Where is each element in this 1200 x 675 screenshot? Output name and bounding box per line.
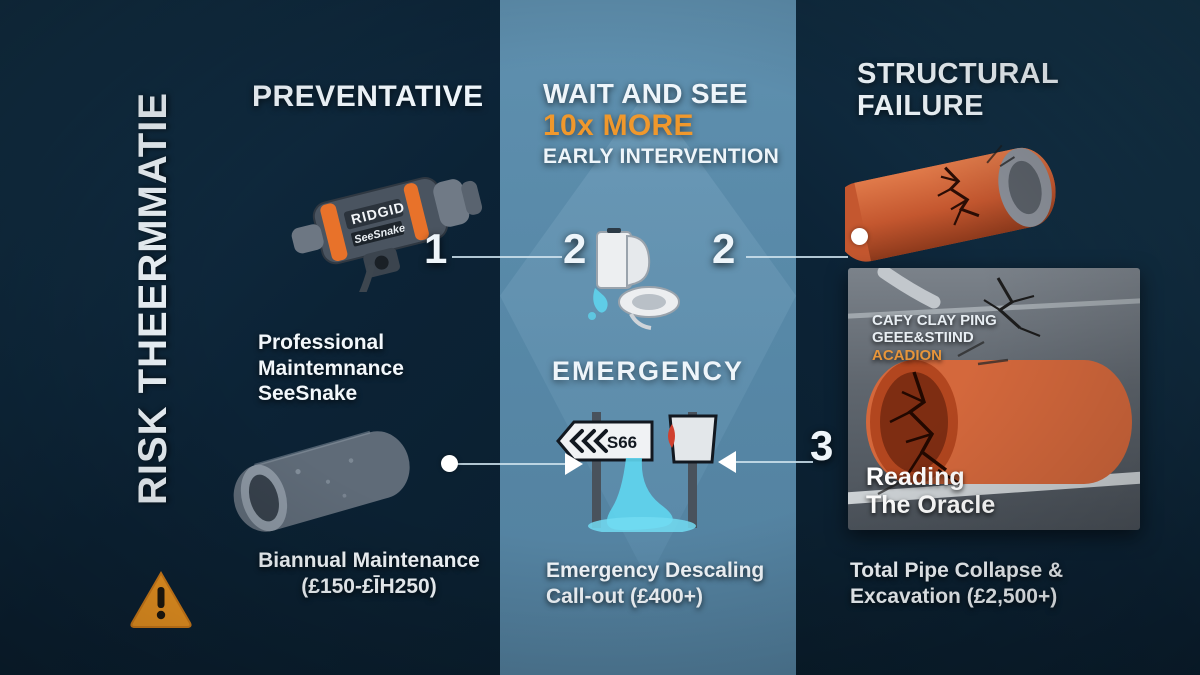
header-structural-line1: STRUCTURAL: [857, 58, 1059, 90]
pipe-collapse-photo-card: CAFY CLAY PING GEEE&STIIND ACADION Readi…: [848, 268, 1140, 530]
marker-number-3: 3: [810, 425, 833, 467]
photo-overlay-bottom-line1: Reading: [866, 463, 995, 492]
arrow-right-icon: [565, 453, 583, 475]
leaking-toilet-icon: [583, 222, 691, 332]
caption-biannual-line1: Biannual Maintenance: [234, 548, 504, 574]
photo-overlay-bottom-text: Reading The Oracle: [866, 463, 995, 521]
header-early-intervention: EARLY INTERVENTION: [543, 145, 779, 169]
caption-professional-maintenance: Professional Maintemnance SeeSnake: [258, 330, 404, 407]
caption-biannual-maintenance: Biannual Maintenance (£150-£ĪH250): [234, 548, 504, 599]
caption-biannual-line2: (£150-£ĪH250): [234, 574, 504, 600]
vertical-title: RISK THEERMMATIE: [118, 92, 188, 562]
header-structural-failure: STRUCTURAL FAILURE: [857, 58, 1059, 123]
connector-dot-left: [441, 455, 458, 472]
caption-pro-line3: SeeSnake: [258, 381, 404, 407]
caption-emerg-line2: Call-out (£400+): [546, 584, 764, 610]
warning-triangle-icon: [129, 570, 193, 628]
marker-number-2b: 2: [712, 228, 735, 270]
photo-overlay-bottom-line2: The Oracle: [866, 491, 995, 520]
caption-pro-line2: Maintemnance: [258, 356, 404, 382]
connector-line-4: [735, 461, 813, 463]
caption-total-pipe-collapse: Total Pipe Collapse & Excavation (£2,500…: [850, 558, 1063, 609]
caption-pro-line1: Professional: [258, 330, 404, 356]
flooded-signpost-icon: S66: [556, 404, 736, 532]
photo-overlay-line1: CAFY CLAY PING: [872, 312, 997, 329]
seesnake-camera-icon: RIDGID SeeSnake: [288, 142, 503, 292]
connector-dot-right: [851, 228, 868, 245]
cracked-clay-pipe-icon: [845, 132, 1107, 272]
vertical-title-text: RISK THEERMMATIE: [133, 92, 173, 505]
header-wait-line1: WAIT AND SEE: [543, 78, 748, 109]
caption-emerg-line1: Emergency Descaling: [546, 558, 764, 584]
arrow-left-icon: [718, 451, 736, 473]
emergency-label: EMERGENCY: [500, 356, 796, 387]
connector-line-1: [452, 256, 562, 258]
photo-overlay-accent: ACADION: [872, 347, 997, 364]
photo-overlay-top-text: CAFY CLAY PING GEEE&STIIND ACADION: [872, 312, 997, 364]
connector-line-2: [746, 256, 848, 258]
grey-pipe-icon: [232, 420, 422, 545]
connector-line-3: [453, 463, 571, 465]
caption-total-line2: Excavation (£2,500+): [850, 584, 1063, 610]
marker-number-2a: 2: [563, 228, 586, 270]
header-structural-line2: FAILURE: [857, 90, 1059, 122]
photo-overlay-line2: GEEE&STIIND: [872, 329, 997, 346]
header-10x-more: 10x MORE: [543, 109, 779, 143]
caption-emergency-descaling: Emergency Descaling Call-out (£400+): [546, 558, 764, 609]
marker-number-1: 1: [424, 228, 447, 270]
infographic-canvas: RISK THEERMMATIE PREVENTATIVE WAIT AND S…: [0, 0, 1200, 675]
caption-total-line1: Total Pipe Collapse &: [850, 558, 1063, 584]
header-wait-and-see: WAIT AND SEE 10x MORE EARLY INTERVENTION: [543, 78, 779, 168]
header-preventative: PREVENTATIVE: [252, 80, 484, 114]
sign-code-text: S66: [607, 433, 637, 452]
